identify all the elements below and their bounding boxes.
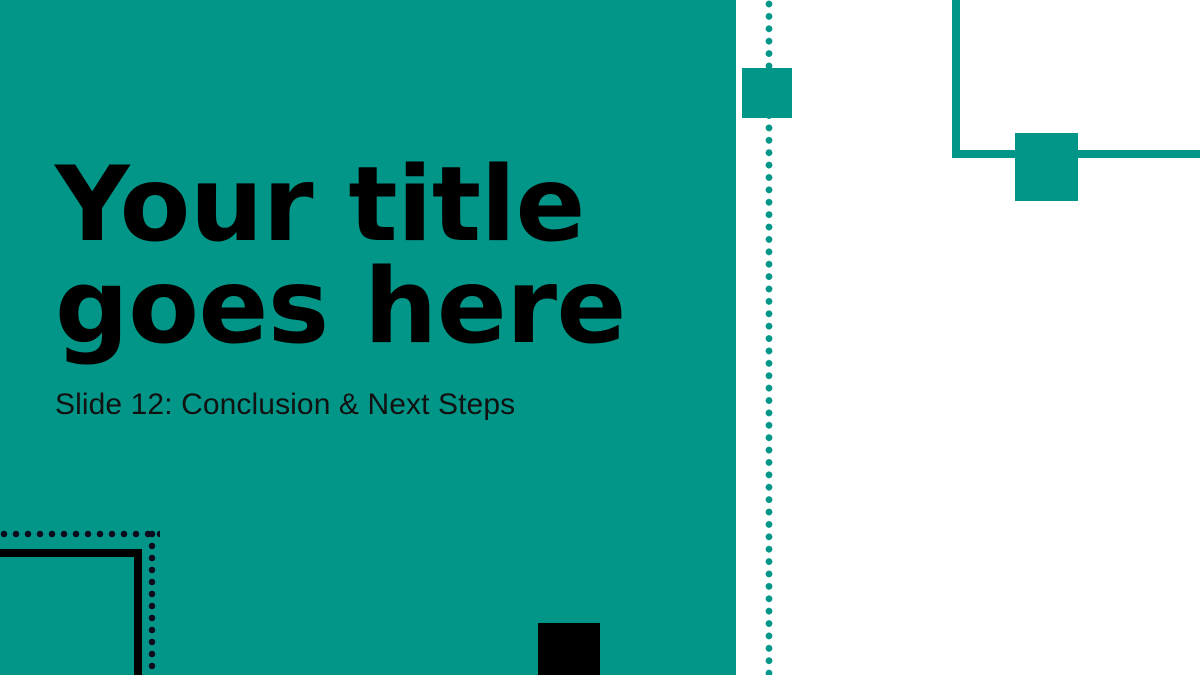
bottom-left-dotted-top-edge [0, 530, 160, 538]
title-block: Your title goes here Slide 12: Conclusio… [55, 155, 695, 423]
top-right-vertical-rule [952, 0, 960, 158]
bottom-black-square [538, 623, 600, 675]
bottom-left-dotted-right-edge [148, 530, 156, 675]
page-title: Your title goes here [55, 155, 695, 359]
page-subtitle: Slide 12: Conclusion & Next Steps [55, 387, 695, 423]
teal-square-on-rule [1015, 133, 1078, 201]
slide-canvas: Your title goes here Slide 12: Conclusio… [0, 0, 1200, 675]
bottom-left-solid-top-edge [0, 549, 142, 557]
teal-square-on-dotted-line [742, 68, 792, 118]
bottom-left-solid-right-edge [134, 549, 142, 675]
